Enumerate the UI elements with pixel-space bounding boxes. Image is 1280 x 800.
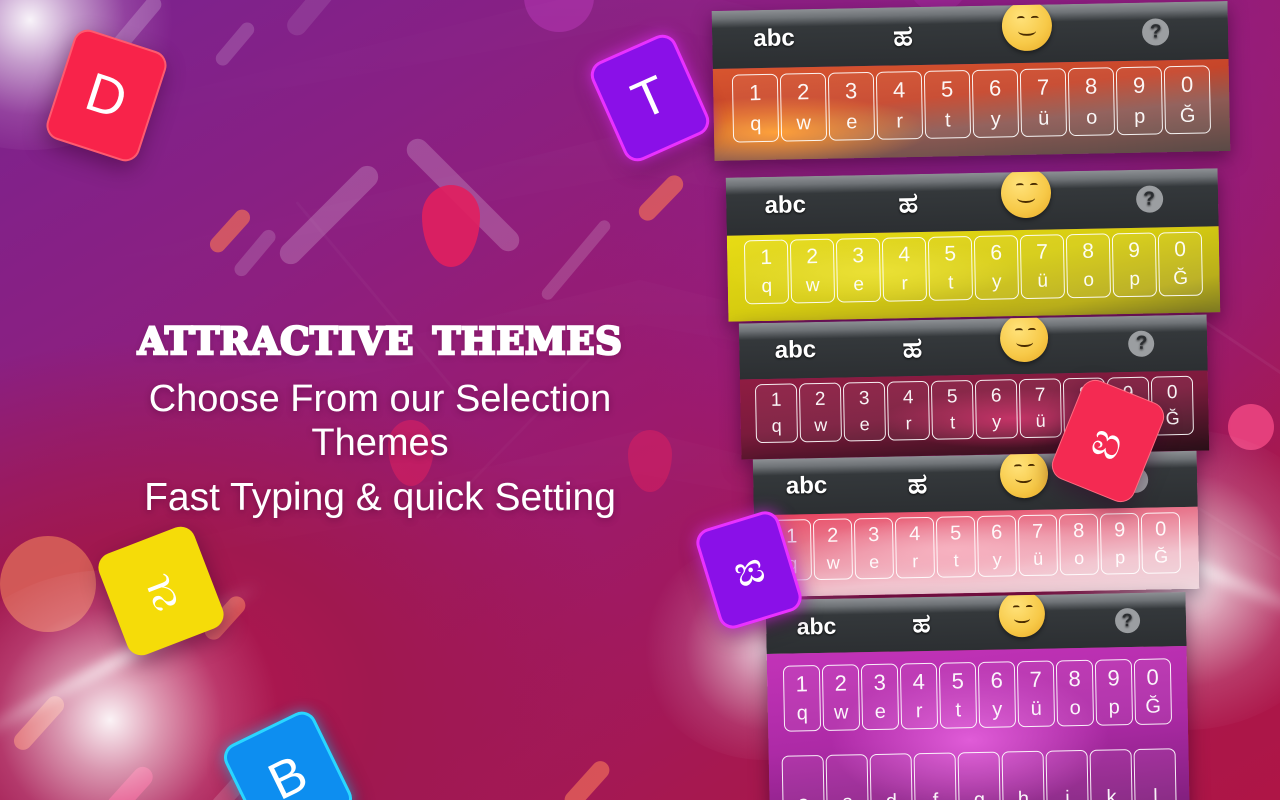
key-letter-label: f	[932, 790, 938, 800]
toolbar-help-button[interactable]: ?	[1076, 330, 1208, 359]
key-card-label: B	[261, 747, 315, 800]
keyboard-key[interactable]: 2w	[799, 383, 842, 443]
keyboard-key[interactable]: 0Ğ	[1134, 658, 1172, 725]
key-number-label: 2	[834, 671, 847, 697]
key-number-label: 4	[909, 523, 921, 546]
smiling-face-emoji-icon	[999, 451, 1048, 498]
keyboard-key[interactable]: 4r	[895, 517, 935, 579]
key-number-label: 5	[950, 522, 962, 545]
keyboard-key[interactable]: 3e	[836, 238, 881, 303]
key-letter-label: k	[1106, 786, 1116, 800]
keyboard-key[interactable]: h	[1002, 751, 1045, 800]
keyboard-key[interactable]: 2w	[780, 73, 827, 142]
key-number-label: 8	[1085, 74, 1098, 100]
keyboard-key[interactable]: f	[914, 752, 957, 800]
key-number-label: 3	[845, 78, 858, 104]
key-letter-label: ü	[1030, 698, 1042, 721]
keyboard-key[interactable]: 4r	[882, 237, 927, 302]
key-number-label: 7	[1032, 521, 1044, 544]
key-number-label: 9	[1107, 665, 1120, 691]
key-letter-label: Ğ	[1145, 695, 1161, 718]
keyboard-key[interactable]: 5t	[939, 662, 977, 729]
key-letter-label: t	[955, 699, 961, 722]
key-number-label: 2	[815, 389, 826, 411]
key-letter-label: a	[798, 792, 810, 800]
key-letter-label: q	[772, 416, 782, 437]
key-letter-label: o	[1069, 697, 1081, 720]
key-letter-label: t	[950, 412, 955, 433]
toolbar-emoji-button[interactable]	[970, 11, 1084, 56]
key-number-label: 2	[806, 245, 818, 269]
key-letter-label: p	[1108, 696, 1120, 719]
toolbar-language-button[interactable]: ಹ	[851, 330, 973, 366]
key-letter-label: r	[916, 700, 923, 723]
keyboard-theme-fire-lion[interactable]: abcಹ?1q2w3e4r5t6y7ü8o9p0Ğ	[712, 1, 1231, 161]
key-letter-label: r	[912, 551, 918, 572]
keyboard-key[interactable]: 6y	[977, 515, 1017, 577]
key-letter-label: Ğ	[1165, 408, 1179, 429]
key-row: 1q2w3e4r5t6y7ü8o9p0Ğ	[713, 65, 1230, 143]
key-letter-label: e	[859, 414, 869, 435]
keyboard-key[interactable]: s	[826, 754, 869, 800]
key-letter-label: o	[1086, 107, 1098, 130]
keyboard-key[interactable]: 4r	[887, 381, 930, 441]
keyboard-key[interactable]: 3e	[828, 72, 875, 141]
toolbar-language-button[interactable]: ಹ	[867, 608, 977, 641]
key-number-label: 1	[749, 80, 762, 106]
key-number-label: 5	[941, 76, 954, 102]
key-number-label: 4	[893, 77, 906, 103]
smiling-face-emoji-icon	[1001, 1, 1052, 51]
key-letter-label: r	[896, 110, 903, 133]
key-number-label: 7	[1036, 241, 1048, 265]
key-number-label: 0	[1146, 665, 1159, 691]
keyboard-key-area: 1q2w3e4r5t6y7ü8o9p0Ğasdfghjkl	[767, 646, 1191, 800]
keyboard-key[interactable]: 6y	[975, 379, 1018, 439]
help-question-icon: ?	[1135, 185, 1163, 213]
keyboard-key[interactable]: 0Ğ	[1158, 232, 1203, 297]
keyboard-key[interactable]: 1q	[744, 240, 789, 305]
smiling-face-emoji-icon	[1001, 168, 1052, 218]
key-letter-label: d	[886, 791, 898, 800]
keyboard-key[interactable]: 2w	[790, 239, 835, 304]
key-row: asdfghjkl	[769, 748, 1190, 800]
key-number-label: 0	[1167, 382, 1178, 404]
key-number-label: 9	[1133, 73, 1146, 99]
key-number-label: 1	[795, 671, 808, 697]
key-letter-label: r	[901, 273, 908, 295]
keyboard-key[interactable]: 5t	[931, 380, 974, 440]
key-number-label: 6	[990, 668, 1003, 694]
keyboard-key[interactable]: 7ü	[1020, 234, 1065, 299]
key-number-label: 6	[991, 522, 1003, 545]
key-row: 1q2w3e4r5t6y7ü8o9p0Ğ	[754, 512, 1199, 582]
key-number-label: 0	[1174, 238, 1186, 262]
key-card-label: T	[625, 68, 675, 128]
key-letter-label: e	[846, 111, 858, 134]
keyboard-key[interactable]: 3e	[854, 518, 894, 580]
key-number-label: 8	[1068, 666, 1081, 692]
key-number-label: 3	[852, 244, 864, 268]
key-number-label: 1	[786, 525, 798, 548]
key-card-label: ಐ	[1086, 414, 1131, 468]
key-letter-label: w	[796, 112, 811, 135]
key-number-label: 3	[868, 524, 880, 547]
key-letter-label: t	[948, 272, 954, 294]
keyboard-key[interactable]: 3e	[843, 382, 886, 442]
keyboard-key[interactable]: 1q	[732, 74, 779, 143]
keyboard-key[interactable]: 9p	[1112, 232, 1157, 297]
keyboard-key[interactable]: 1q	[783, 665, 821, 732]
key-letter-label: q	[750, 113, 762, 136]
key-letter-label: w	[834, 701, 849, 724]
key-letter-label: ü	[1035, 411, 1045, 432]
keyboard-toolbar: abcಹ?	[766, 592, 1187, 654]
keyboard-key[interactable]: 2w	[822, 664, 860, 731]
keyboard-key[interactable]: d	[870, 753, 913, 800]
key-row: 1q2w3e4r5t6y7ü8o9p0Ğ	[727, 231, 1220, 304]
key-letter-label: e	[869, 552, 879, 573]
key-letter-label: o	[1083, 270, 1094, 292]
key-letter-label: Ğ	[1173, 268, 1188, 290]
key-letter-label: q	[761, 276, 772, 298]
toolbar-emoji-button[interactable]	[973, 325, 1077, 368]
key-letter-label: g	[974, 789, 986, 800]
toolbar-language-button[interactable]: ಹ	[844, 185, 973, 221]
keyboard-key[interactable]: 6y	[972, 69, 1019, 138]
key-number-label: 6	[990, 241, 1002, 265]
key-number-label: 4	[903, 387, 914, 409]
key-number-label: 7	[1035, 385, 1046, 407]
toolbar-abc-button[interactable]: abc	[726, 190, 845, 220]
key-number-label: 8	[1073, 520, 1085, 543]
keyboard-key[interactable]: 5t	[928, 236, 973, 301]
keyboard-key[interactable]: a	[782, 755, 825, 800]
keyboard-key[interactable]: 0Ğ	[1141, 512, 1181, 574]
keyboard-key[interactable]: 8o	[1056, 660, 1094, 727]
key-number-label: 7	[1037, 75, 1050, 101]
keyboard-key[interactable]: l	[1134, 748, 1177, 800]
key-letter-label: w	[806, 275, 820, 297]
toolbar-abc-button[interactable]: abc	[766, 612, 867, 641]
key-letter-label: r	[905, 413, 911, 434]
key-number-label: 1	[760, 246, 772, 270]
key-number-label: 4	[912, 669, 925, 695]
key-letter-label: Ğ	[1154, 546, 1168, 567]
toolbar-abc-button[interactable]: abc	[753, 471, 860, 501]
key-number-label: 5	[947, 386, 958, 408]
key-letter-label: p	[1115, 547, 1125, 568]
key-card-label: ಙ	[728, 545, 769, 596]
key-number-label: 3	[859, 388, 870, 410]
key-letter-label: e	[874, 701, 886, 724]
key-letter-label: o	[1074, 548, 1084, 569]
keyboard-key[interactable]: 3e	[861, 664, 899, 731]
key-letter-label: e	[853, 274, 864, 296]
keyboard-key[interactable]: 8o	[1066, 233, 1111, 298]
key-number-label: 3	[873, 670, 886, 696]
key-letter-label: y	[991, 108, 1001, 131]
keyboard-key[interactable]: 7ü	[1020, 68, 1067, 137]
key-letter-label: y	[992, 550, 1001, 571]
help-question-icon: ?	[1142, 18, 1170, 46]
key-number-label: 5	[944, 242, 956, 266]
keyboard-key-area: 1q2w3e4r5t6y7ü8o9p0Ğ	[713, 59, 1231, 161]
keyboard-key-area: 1q2w3e4r5t6y7ü8o9p0Ğ	[727, 226, 1221, 321]
key-row: 1q2w3e4r5t6y7ü8o9p0Ğ	[767, 658, 1188, 732]
key-number-label: 8	[1082, 240, 1094, 264]
keyboard-key[interactable]: 6y	[978, 661, 1016, 728]
key-letter-label: t	[953, 550, 958, 571]
key-number-label: 2	[827, 525, 839, 548]
key-letter-label: y	[992, 271, 1002, 293]
toolbar-help-button[interactable]: ?	[1068, 606, 1186, 633]
toolbar-help-button[interactable]: ?	[1080, 184, 1218, 214]
key-letter-label: ü	[1038, 108, 1050, 131]
keyboard-key[interactable]: 5t	[924, 70, 971, 139]
key-letter-label: y	[992, 411, 1001, 432]
toolbar-emoji-button[interactable]	[972, 178, 1081, 223]
keyboard-key[interactable]: 7ü	[1018, 514, 1058, 576]
key-letter-label: ü	[1033, 549, 1043, 570]
key-number-label: 4	[898, 243, 910, 267]
key-number-label: 0	[1181, 72, 1194, 98]
key-letter-label: p	[1134, 106, 1146, 129]
key-number-label: 9	[1114, 519, 1126, 542]
key-letter-label: w	[827, 553, 840, 574]
help-question-icon: ?	[1128, 331, 1154, 357]
toolbar-emoji-button[interactable]	[976, 601, 1069, 643]
keyboard-key[interactable]: 4r	[900, 663, 938, 730]
toolbar-language-button[interactable]: ಹ	[859, 466, 975, 502]
toolbar-language-button[interactable]: ಹ	[836, 18, 971, 55]
key-letter-label: h	[1018, 788, 1030, 800]
key-letter-label: y	[992, 699, 1002, 722]
toolbar-help-button[interactable]: ?	[1083, 17, 1228, 47]
keyboard-toolbar: abcಹ?	[726, 168, 1219, 235]
keyboard-key[interactable]: 4r	[876, 71, 923, 140]
key-number-label: 1	[771, 390, 782, 412]
keyboard-key[interactable]: 9p	[1095, 659, 1133, 726]
keyboard-key[interactable]: 7ü	[1019, 378, 1062, 438]
key-letter-label: Ğ	[1180, 105, 1196, 128]
keyboard-key[interactable]: g	[958, 752, 1001, 800]
smiling-face-emoji-icon	[999, 592, 1046, 638]
key-number-label: 6	[989, 75, 1002, 101]
keyboard-key[interactable]: 8o	[1068, 67, 1115, 136]
toolbar-abc-button[interactable]: abc	[712, 24, 836, 54]
keyboard-key[interactable]: 9p	[1116, 66, 1163, 135]
keyboard-key[interactable]: 5t	[936, 516, 976, 578]
key-card-label: ನ	[139, 563, 183, 620]
keyboard-theme-yellow-minion[interactable]: abcಹ?1q2w3e4r5t6y7ü8o9p0Ğ	[726, 168, 1221, 321]
key-letter-label: p	[1129, 269, 1140, 291]
key-number-label: 6	[991, 385, 1002, 407]
smiling-face-emoji-icon	[1000, 315, 1049, 362]
keyboard-toolbar: abcಹ?	[739, 315, 1208, 380]
keyboard-toolbar: abcಹ?	[712, 1, 1229, 69]
keyboard-key[interactable]: 2w	[813, 518, 853, 580]
keyboard-key[interactable]: 6y	[974, 235, 1019, 300]
keyboard-key[interactable]: 9p	[1100, 513, 1140, 575]
key-number-label: 0	[1155, 518, 1167, 541]
key-number-label: 5	[951, 668, 964, 694]
help-question-icon: ?	[1114, 607, 1139, 632]
key-letter-label: w	[814, 415, 827, 436]
key-letter-label: j	[1065, 787, 1070, 800]
keyboard-key[interactable]: 8o	[1059, 514, 1099, 576]
key-number-label: 9	[1128, 239, 1140, 263]
keyboard-key[interactable]: 1q	[755, 383, 798, 443]
toolbar-abc-button[interactable]: abc	[739, 335, 852, 365]
keyboard-key[interactable]: j	[1046, 750, 1089, 800]
key-letter-label: ü	[1037, 271, 1048, 293]
key-letter-label: q	[797, 702, 809, 725]
key-number-label: 2	[797, 79, 810, 105]
keyboard-theme-purple-floral[interactable]: abcಹ?1q2w3e4r5t6y7ü8o9p0Ğasdfghjkl	[766, 592, 1191, 800]
key-letter-label: l	[1153, 786, 1158, 800]
keyboard-key[interactable]: 0Ğ	[1164, 65, 1211, 134]
keyboard-key-area: 1q2w3e4r5t6y7ü8o9p0Ğ	[754, 507, 1199, 598]
key-card-label: D	[80, 64, 134, 127]
keyboard-key[interactable]: k	[1090, 749, 1133, 800]
keyboard-key[interactable]: 7ü	[1017, 661, 1055, 728]
key-number-label: 7	[1029, 667, 1042, 693]
key-letter-label: s	[842, 791, 852, 800]
key-letter-label: t	[945, 109, 951, 132]
